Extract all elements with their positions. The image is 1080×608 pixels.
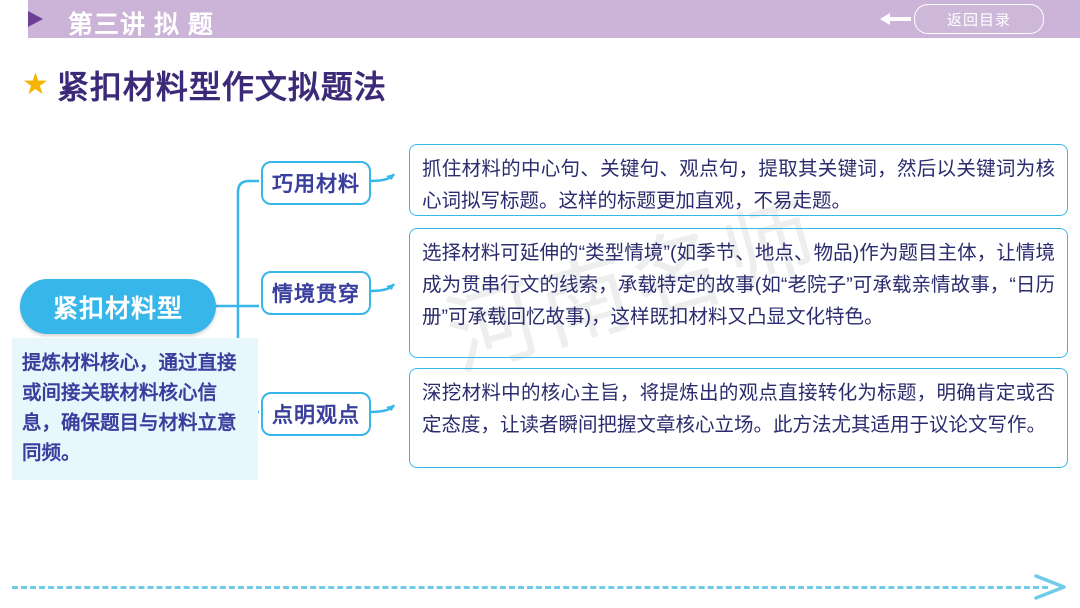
header-title: 第三讲 拟 题 bbox=[68, 5, 214, 41]
right-arrow-icon[interactable] bbox=[1034, 572, 1068, 602]
left-arrow-icon bbox=[878, 11, 912, 27]
star-icon: ★ bbox=[22, 70, 49, 100]
play-triangle-icon bbox=[28, 11, 43, 27]
branch-label-qing-jing-guan-chuan: 情境贯穿 bbox=[261, 271, 371, 315]
branch-content-dian-ming-guan-dian: 深挖材料中的核心主旨，将提炼出的观点直接转化为标题，明确肯定或否定态度，让读者瞬… bbox=[409, 368, 1068, 468]
header-bar: 第三讲 拟 题 返回目录 bbox=[0, 0, 1080, 38]
branch-label-qiao-yong-cai-liao: 巧用材料 bbox=[261, 161, 371, 205]
branch-content-qiao-yong-cai-liao: 抓住材料的中心句、关键句、观点句，提取其关键词，然后以关键词为核心词拟写标题。这… bbox=[409, 144, 1068, 216]
mindmap-root-label: 紧扣材料型 bbox=[53, 289, 183, 325]
mindmap-root-description: 提炼材料核心，通过直接或间接关联材料核心信息，确保题目与材料立意同频。 bbox=[12, 338, 258, 480]
page-title: ★ 紧扣材料型作文拟题法 bbox=[22, 62, 387, 108]
header-left-accent bbox=[0, 0, 28, 38]
branch-label-dian-ming-guan-dian: 点明观点 bbox=[261, 392, 371, 436]
return-to-contents-button[interactable]: 返回目录 bbox=[914, 4, 1044, 34]
page-title-text: 紧扣材料型作文拟题法 bbox=[57, 62, 387, 108]
mindmap-root-node: 紧扣材料型 bbox=[20, 279, 216, 334]
footer-divider bbox=[12, 586, 1048, 589]
branch-content-qing-jing-guan-chuan: 选择材料可延伸的“类型情境”(如季节、地点、物品)作为题目主体，让情境成为贯串行… bbox=[409, 228, 1068, 358]
